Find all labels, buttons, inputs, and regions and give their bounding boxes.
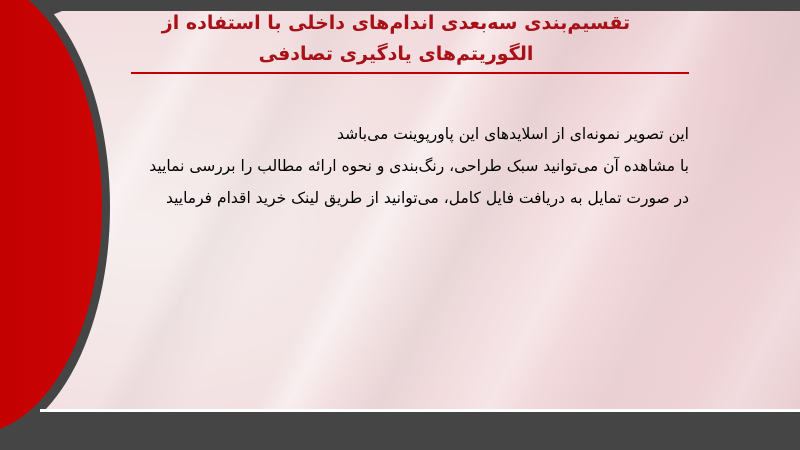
slide-title: تقسیم‌بندی سه‌بعدی اندام‌های داخلی با اس…	[100, 8, 692, 70]
slide-title-line-2: الگوریتم‌های یادگیری تصادفی	[100, 39, 692, 70]
slide-frame-band-bottom	[0, 412, 800, 450]
presentation-slide: تقسیم‌بندی سه‌بعدی اندام‌های داخلی با اس…	[0, 0, 800, 450]
title-divider-rule	[131, 72, 689, 74]
slide-body-line-3: در صورت تمایل به دریافت فایل کامل، می‌تو…	[109, 182, 689, 214]
panel-bottom-highlight	[40, 409, 800, 412]
slide-body-line-2: با مشاهده آن می‌توانید سبک طراحی، رنگ‌بن…	[109, 150, 689, 182]
slide-body-line-1: این تصویر نمونه‌ای از اسلایدهای این پاور…	[109, 118, 689, 150]
slide-body-text: این تصویر نمونه‌ای از اسلایدهای این پاور…	[109, 118, 689, 214]
slide-title-line-1: تقسیم‌بندی سه‌بعدی اندام‌های داخلی با اس…	[100, 8, 692, 39]
